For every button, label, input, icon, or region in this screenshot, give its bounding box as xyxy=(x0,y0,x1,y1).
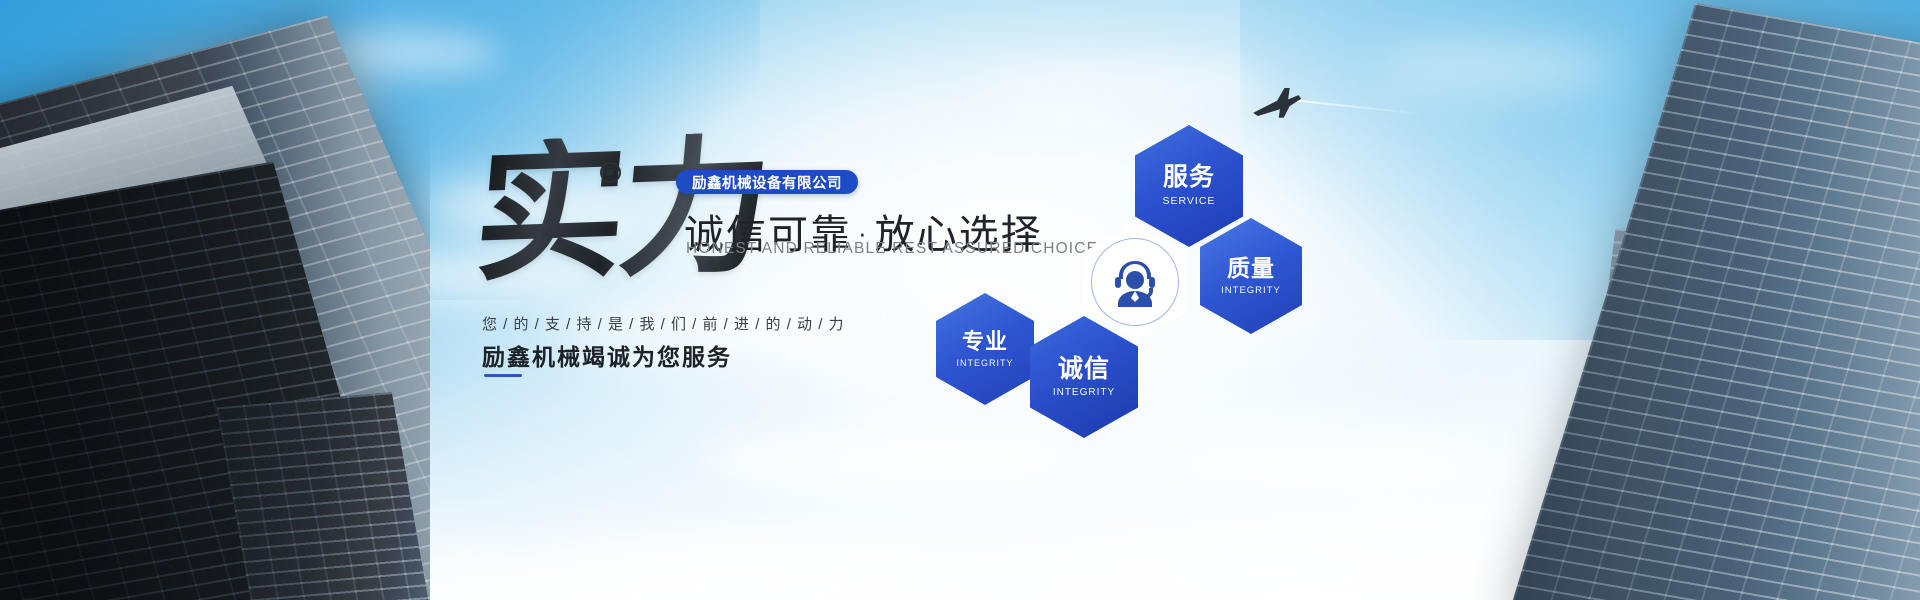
hex-service[interactable]: 服务 SERVICE xyxy=(1135,125,1243,247)
hex-professional-label-en: INTEGRITY xyxy=(956,358,1013,368)
hexagon-cluster: 服务 SERVICE 质量 INTEGRITY 专业 INTEGRITY 诚信 … xyxy=(920,110,1340,410)
hex-service-label-zh: 服务 xyxy=(1163,165,1215,190)
hex-quality[interactable]: 质量 INTEGRITY xyxy=(1200,218,1302,334)
hex-trust-label-zh: 诚信 xyxy=(1058,357,1110,382)
seal-dot-icon xyxy=(600,162,621,183)
hex-quality-label-zh: 质量 xyxy=(1227,257,1275,280)
tagline-underline xyxy=(484,374,522,377)
tagline-slashed: 您 / 的 / 支 / 持 / 是 / 我 / 们 / 前 / 进 / 的 / … xyxy=(482,313,845,334)
hex-quality-label-en: INTEGRITY xyxy=(1221,285,1281,296)
hex-professional-label-zh: 专业 xyxy=(962,331,1008,353)
promotional-banner: 实力 励鑫机械设备有限公司 诚信可靠·放心选择 HONEST AND RELIA… xyxy=(0,0,1920,600)
hex-professional[interactable]: 专业 INTEGRITY xyxy=(936,293,1034,405)
hex-trust-label-en: INTEGRITY xyxy=(1053,387,1115,398)
tagline-main: 励鑫机械竭诚为您服务 xyxy=(482,338,732,372)
company-badge: 励鑫机械设备有限公司 xyxy=(676,170,858,194)
avatar xyxy=(1091,238,1179,326)
customer-service-avatar-icon xyxy=(1100,247,1170,317)
hex-avatar-panel[interactable] xyxy=(1083,223,1187,341)
hex-service-label-en: SERVICE xyxy=(1163,195,1216,207)
